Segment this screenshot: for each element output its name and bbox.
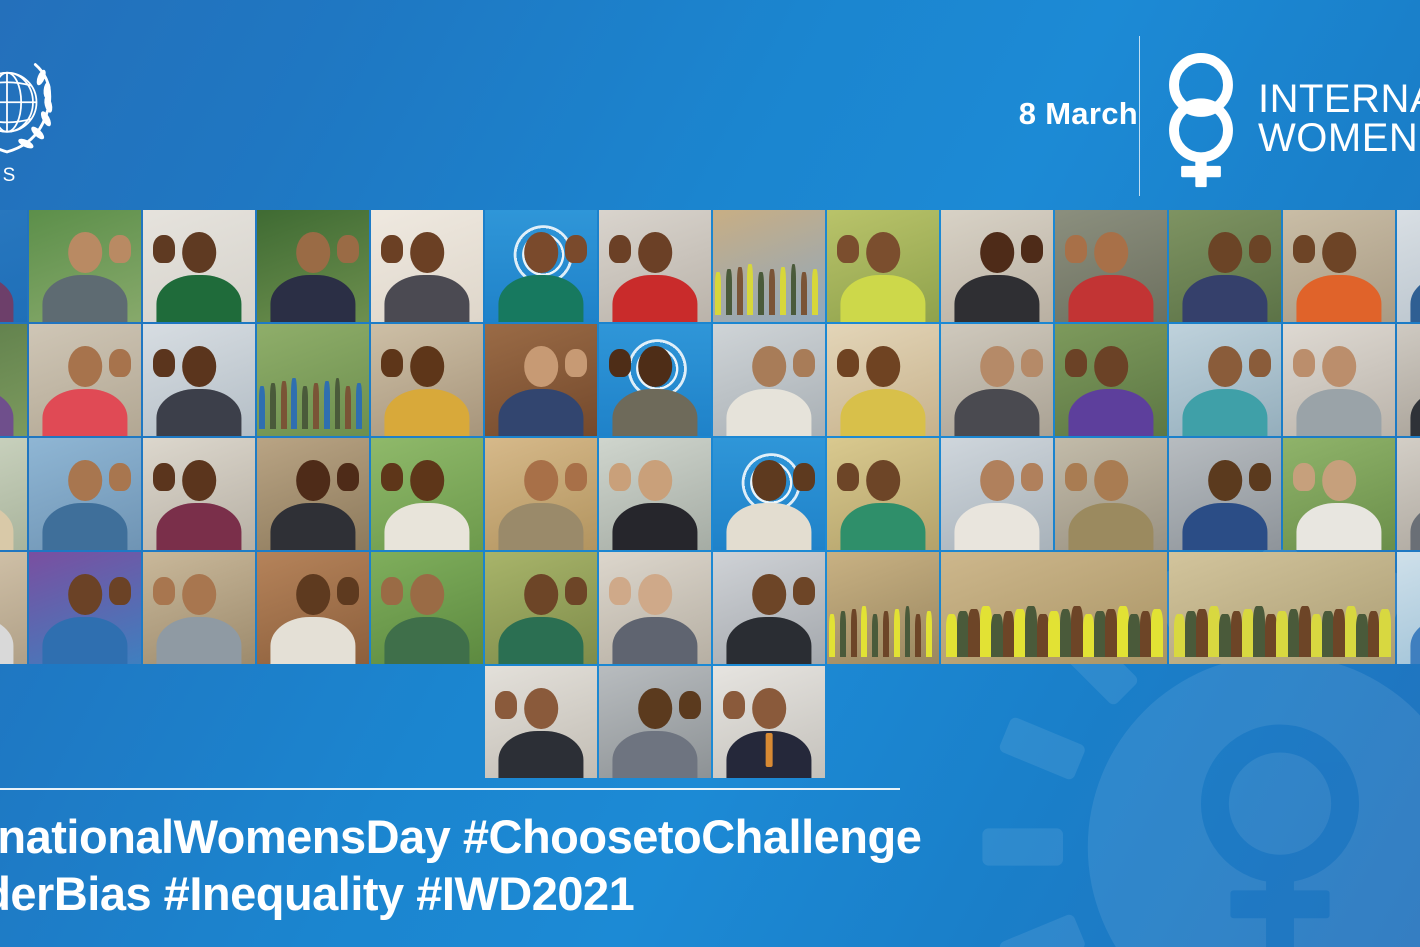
photo-torso <box>1068 389 1153 436</box>
mosaic-tile <box>941 438 1053 550</box>
photo-raised-hand <box>381 349 403 377</box>
hashtag-block: ernationalWomensDay #ChoosetoChallenge n… <box>0 808 921 923</box>
mosaic-tile <box>1397 210 1420 322</box>
mosaic-tile <box>371 210 483 322</box>
mosaic-photo <box>29 438 141 550</box>
mosaic-tile <box>713 666 825 778</box>
mosaic-photo <box>485 438 597 550</box>
mosaic-photo <box>371 324 483 436</box>
photo-head <box>1094 460 1128 500</box>
photo-head <box>1094 346 1128 386</box>
mosaic-tile <box>1397 438 1420 550</box>
mosaic-photo <box>143 552 255 664</box>
mosaic-tile <box>1397 324 1420 436</box>
mosaic-tile <box>485 438 597 550</box>
photo-head <box>410 232 444 272</box>
mosaic-photo <box>485 666 597 778</box>
mosaic-tile <box>29 210 141 322</box>
photo-torso <box>156 275 241 322</box>
mosaic-tile <box>1169 324 1281 436</box>
mosaic-photo <box>485 210 597 322</box>
photo-head <box>182 460 216 500</box>
mosaic-tile <box>485 552 597 664</box>
mosaic-tile <box>0 324 27 436</box>
mosaic-photo <box>0 210 27 322</box>
photo-raised-hand <box>1021 463 1043 491</box>
mosaic-photo <box>827 552 939 664</box>
photo-torso <box>498 389 583 436</box>
mosaic-tile <box>713 324 825 436</box>
photo-torso <box>42 617 127 664</box>
photo-raised-hand <box>153 577 175 605</box>
mosaic-tile <box>0 552 27 664</box>
photo-raised-hand <box>337 463 359 491</box>
mosaic-photo <box>257 324 369 436</box>
photo-raised-hand <box>793 349 815 377</box>
photo-torso <box>840 275 925 322</box>
un-wordmark: ATIONS <box>0 165 17 187</box>
photo-head <box>410 460 444 500</box>
photo-head <box>524 688 558 728</box>
mosaic-photo <box>29 324 141 436</box>
photo-mosaic <box>0 208 1420 772</box>
mosaic-photo <box>371 552 483 664</box>
photo-head <box>980 346 1014 386</box>
photo-head <box>68 460 102 500</box>
photo-raised-hand <box>337 235 359 263</box>
mosaic-photo <box>827 438 939 550</box>
photo-torso <box>954 503 1039 550</box>
mosaic-tile <box>713 438 825 550</box>
photo-torso <box>270 503 355 550</box>
mosaic-photo <box>1397 324 1420 436</box>
photo-raised-hand <box>609 463 631 491</box>
photo-raised-hand <box>609 349 631 377</box>
mosaic-photo <box>599 210 711 322</box>
mosaic-photo <box>941 552 1167 664</box>
photo-torso <box>498 617 583 664</box>
photo-raised-hand <box>1293 235 1315 263</box>
photo-raised-hand <box>1293 349 1315 377</box>
mosaic-photo <box>257 210 369 322</box>
mosaic-tile <box>143 324 255 436</box>
poster-canvas: ATIONS 8 March INTERNATIONAL WOM <box>0 0 1420 947</box>
mosaic-photo <box>599 438 711 550</box>
photo-head <box>1208 232 1242 272</box>
photo-raised-hand <box>381 235 403 263</box>
mosaic-photo <box>713 210 825 322</box>
photo-torso <box>1296 389 1381 436</box>
photo-head <box>866 346 900 386</box>
mosaic-tile <box>143 438 255 550</box>
photo-raised-hand <box>381 463 403 491</box>
mosaic-tile <box>143 552 255 664</box>
photo-group-row <box>713 264 825 316</box>
mosaic-tile <box>713 552 825 664</box>
mosaic-tile <box>827 438 939 550</box>
hashtag-line-2: nderBias #Inequality #IWD2021 <box>0 865 921 922</box>
mosaic-tile <box>599 552 711 664</box>
mosaic-photo <box>713 552 825 664</box>
photo-head <box>638 460 672 500</box>
photo-raised-hand <box>109 577 131 605</box>
photo-raised-hand <box>1293 463 1315 491</box>
mosaic-tile <box>1283 324 1395 436</box>
mosaic-photo <box>1283 324 1395 436</box>
mosaic-photo <box>1397 552 1420 664</box>
iwd-logo-lockup: INTERNATIONAL WOMEN'S DAY <box>1158 48 1420 190</box>
poster-header: ATIONS 8 March INTERNATIONAL WOM <box>0 0 1420 208</box>
photo-raised-hand <box>609 577 631 605</box>
photo-necktie <box>766 733 773 767</box>
photo-head <box>1322 460 1356 500</box>
photo-raised-hand <box>337 577 359 605</box>
mosaic-photo <box>599 324 711 436</box>
photo-raised-hand <box>837 463 859 491</box>
mosaic-photo <box>713 666 825 778</box>
mosaic-tile <box>599 324 711 436</box>
mosaic-tile <box>713 210 825 322</box>
photo-head <box>1322 346 1356 386</box>
mosaic-tile <box>143 210 255 322</box>
photo-head <box>296 232 330 272</box>
photo-head <box>980 460 1014 500</box>
mosaic-photo <box>143 324 255 436</box>
mosaic-photo <box>599 552 711 664</box>
photo-torso <box>612 731 697 778</box>
photo-raised-hand <box>565 463 587 491</box>
photo-head <box>410 574 444 614</box>
photo-head <box>524 460 558 500</box>
iwd-venus-rings-icon <box>1158 48 1244 190</box>
date-label: 8 March <box>1019 96 1138 132</box>
photo-raised-hand <box>1021 235 1043 263</box>
mosaic-photo <box>0 324 27 436</box>
photo-torso <box>612 275 697 322</box>
mosaic-tile <box>599 210 711 322</box>
mosaic-tile <box>1055 438 1167 550</box>
photo-raised-hand <box>565 577 587 605</box>
photo-torso <box>726 503 811 550</box>
mosaic-photo <box>485 324 597 436</box>
photo-head <box>68 574 102 614</box>
photo-group-row <box>257 378 369 430</box>
photo-head <box>524 574 558 614</box>
photo-torso <box>42 389 127 436</box>
mosaic-photo <box>29 552 141 664</box>
photo-head <box>296 574 330 614</box>
un-emblem-icon <box>0 48 66 166</box>
photo-raised-hand <box>495 691 517 719</box>
mosaic-tile <box>1169 438 1281 550</box>
mosaic-photo <box>1283 210 1395 322</box>
mosaic-tile <box>827 552 939 664</box>
photo-head <box>1094 232 1128 272</box>
photo-raised-hand <box>1249 235 1271 263</box>
photo-raised-hand <box>1065 463 1087 491</box>
mosaic-tile <box>599 666 711 778</box>
photo-head <box>638 346 672 386</box>
mosaic-photo <box>257 438 369 550</box>
mosaic-photo <box>485 552 597 664</box>
photo-head <box>638 232 672 272</box>
mosaic-photo <box>941 438 1053 550</box>
photo-torso <box>954 389 1039 436</box>
mosaic-photo <box>1055 210 1167 322</box>
photo-head <box>68 232 102 272</box>
photo-head <box>752 346 786 386</box>
mosaic-tile <box>941 210 1053 322</box>
mosaic-tile <box>257 552 369 664</box>
photo-torso <box>840 389 925 436</box>
photo-torso <box>42 503 127 550</box>
mosaic-photo <box>1169 438 1281 550</box>
mosaic-photo <box>599 666 711 778</box>
header-divider <box>1139 36 1140 196</box>
mosaic-tile <box>0 438 27 550</box>
photo-head <box>1208 460 1242 500</box>
mosaic-tile <box>257 438 369 550</box>
photo-raised-hand <box>381 577 403 605</box>
mosaic-photo <box>941 324 1053 436</box>
photo-torso <box>156 389 241 436</box>
mosaic-tile <box>371 552 483 664</box>
photo-torso <box>726 389 811 436</box>
photo-torso <box>384 617 469 664</box>
photo-head <box>980 232 1014 272</box>
photo-torso <box>612 617 697 664</box>
mosaic-photo <box>1169 210 1281 322</box>
mosaic-photo <box>143 210 255 322</box>
iwd-title: INTERNATIONAL WOMEN'S DAY <box>1258 80 1420 158</box>
photo-torso <box>384 275 469 322</box>
mosaic-tile <box>941 552 1167 664</box>
mosaic-tile <box>941 324 1053 436</box>
mosaic-photo <box>29 210 141 322</box>
mosaic-photo <box>1169 552 1395 664</box>
mosaic-photo <box>941 210 1053 322</box>
mosaic-tile <box>1055 324 1167 436</box>
photo-head <box>1322 232 1356 272</box>
photo-raised-hand <box>1021 349 1043 377</box>
photo-head <box>524 232 558 272</box>
mosaic-photo <box>1055 324 1167 436</box>
photo-torso <box>612 503 697 550</box>
photo-torso <box>270 275 355 322</box>
photo-torso <box>726 617 811 664</box>
mosaic-tile <box>257 324 369 436</box>
photo-torso <box>840 503 925 550</box>
photo-raised-hand <box>109 235 131 263</box>
mosaic-photo <box>1397 210 1420 322</box>
photo-raised-hand <box>609 235 631 263</box>
photo-raised-hand <box>1249 463 1271 491</box>
photo-torso <box>42 275 127 322</box>
photo-raised-hand <box>679 691 701 719</box>
iwd-title-line1: INTERNATIONAL <box>1258 80 1420 119</box>
mosaic-photo <box>827 210 939 322</box>
mosaic-photo <box>1169 324 1281 436</box>
photo-torso <box>270 617 355 664</box>
mosaic-photo <box>1055 438 1167 550</box>
photo-head <box>410 346 444 386</box>
mosaic-tile <box>485 210 597 322</box>
photo-torso <box>156 503 241 550</box>
mosaic-photo <box>0 438 27 550</box>
photo-raised-hand <box>793 577 815 605</box>
photo-head <box>638 688 672 728</box>
mosaic-photo <box>713 324 825 436</box>
mosaic-tile <box>827 324 939 436</box>
photo-torso <box>156 617 241 664</box>
mosaic-photo <box>143 438 255 550</box>
photo-group-row <box>941 606 1167 658</box>
mosaic-photo <box>371 438 483 550</box>
photo-head <box>524 346 558 386</box>
photo-head <box>752 574 786 614</box>
hashtag-line-1: ernationalWomensDay #ChoosetoChallenge <box>0 808 921 865</box>
mosaic-photo <box>1283 438 1395 550</box>
photo-torso <box>1296 275 1381 322</box>
mosaic-photo <box>0 552 27 664</box>
poster-footer: ernationalWomensDay #ChoosetoChallenge n… <box>0 772 1420 947</box>
photo-raised-hand <box>153 235 175 263</box>
mosaic-tile <box>29 552 141 664</box>
mosaic-tile <box>371 438 483 550</box>
mosaic-tile <box>827 210 939 322</box>
photo-raised-hand <box>109 463 131 491</box>
photo-raised-hand <box>153 349 175 377</box>
mosaic-tile <box>1397 552 1420 664</box>
photo-group-row <box>827 606 939 658</box>
photo-torso <box>1296 503 1381 550</box>
photo-raised-hand <box>793 463 815 491</box>
mosaic-tile <box>1283 438 1395 550</box>
photo-torso <box>384 503 469 550</box>
mosaic-tile <box>257 210 369 322</box>
mosaic-tile <box>1169 552 1395 664</box>
photo-raised-hand <box>109 349 131 377</box>
photo-torso <box>1068 503 1153 550</box>
photo-torso <box>498 731 583 778</box>
iwd-title-line2: WOMEN'S DAY <box>1258 119 1420 158</box>
photo-torso <box>612 389 697 436</box>
photo-torso <box>498 275 583 322</box>
mosaic-tile <box>485 666 597 778</box>
photo-raised-hand <box>153 463 175 491</box>
mosaic-photo <box>1397 438 1420 550</box>
mosaic-tile <box>599 438 711 550</box>
mosaic-tile <box>1169 210 1281 322</box>
mosaic-tile <box>371 324 483 436</box>
photo-head <box>866 232 900 272</box>
photo-torso <box>498 503 583 550</box>
photo-raised-hand <box>565 235 587 263</box>
photo-head <box>182 346 216 386</box>
photo-torso <box>1182 503 1267 550</box>
photo-raised-hand <box>723 691 745 719</box>
mosaic-photo <box>257 552 369 664</box>
photo-raised-hand <box>837 235 859 263</box>
photo-head <box>752 460 786 500</box>
photo-raised-hand <box>837 349 859 377</box>
photo-group-row <box>1169 606 1395 658</box>
photo-head <box>1208 346 1242 386</box>
photo-raised-hand <box>1065 235 1087 263</box>
photo-torso <box>1068 275 1153 322</box>
photo-raised-hand <box>565 349 587 377</box>
photo-torso <box>384 389 469 436</box>
mosaic-tile <box>485 324 597 436</box>
mosaic-tile <box>1283 210 1395 322</box>
mosaic-tile <box>1055 210 1167 322</box>
mosaic-tile <box>29 324 141 436</box>
photo-torso <box>1182 389 1267 436</box>
footer-divider <box>0 788 900 790</box>
photo-head <box>752 688 786 728</box>
photo-torso <box>954 275 1039 322</box>
photo-raised-hand <box>1065 349 1087 377</box>
photo-torso <box>1182 275 1267 322</box>
photo-head <box>638 574 672 614</box>
photo-raised-hand <box>1249 349 1271 377</box>
mosaic-photo <box>371 210 483 322</box>
mosaic-photo <box>713 438 825 550</box>
photo-head <box>182 574 216 614</box>
mosaic-photo <box>827 324 939 436</box>
photo-head <box>866 460 900 500</box>
mosaic-tile <box>29 438 141 550</box>
mosaic-tile <box>0 210 27 322</box>
photo-head <box>68 346 102 386</box>
photo-head <box>182 232 216 272</box>
photo-head <box>296 460 330 500</box>
